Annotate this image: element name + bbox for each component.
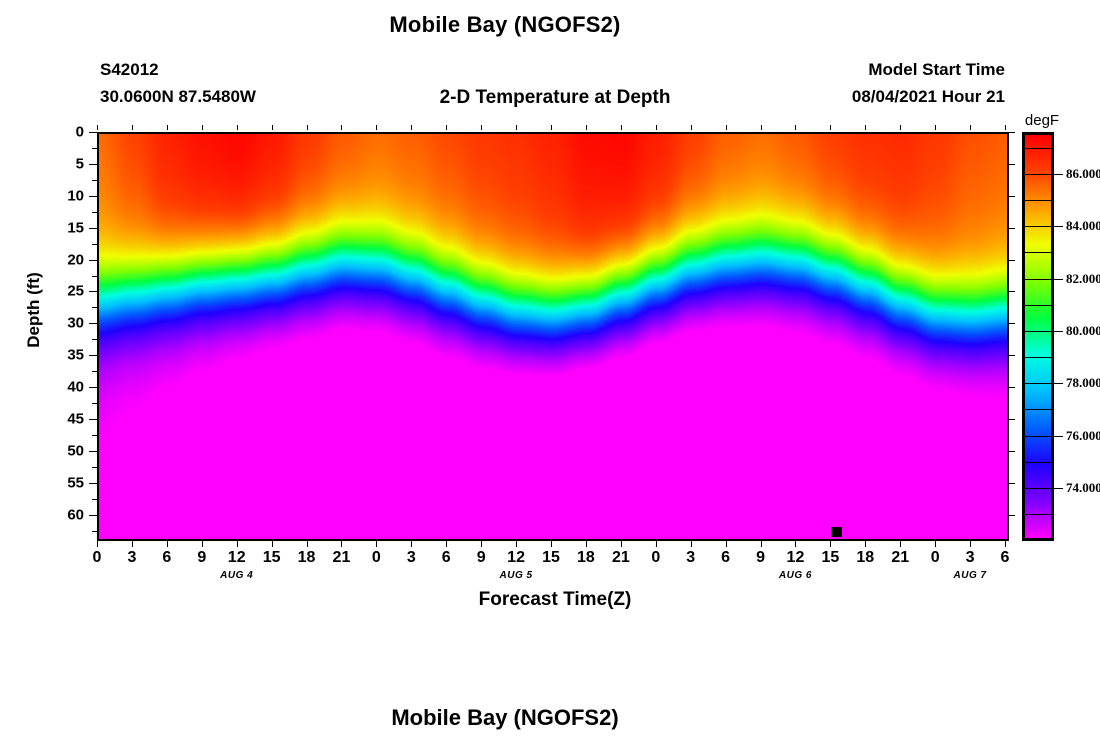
y-axis-tick	[89, 260, 97, 261]
y-axis-tick	[89, 355, 97, 356]
y-axis-minor-tick	[92, 403, 97, 404]
y-axis-minor-tick	[92, 499, 97, 500]
x-axis-tick-label: 18	[298, 549, 316, 567]
station-bottom-depth-marker	[831, 527, 842, 537]
colorbar-band-line	[1025, 279, 1051, 280]
x-axis-day-label: AUG 4	[220, 570, 253, 581]
y-axis-minor-tick	[92, 212, 97, 213]
x-axis-tick-label: 3	[127, 549, 136, 567]
y-axis-minor-tick	[92, 339, 97, 340]
colorbar-band-line	[1025, 148, 1051, 149]
y-axis-tick-label: 30	[42, 315, 84, 332]
y-axis-right-tick	[1007, 164, 1015, 165]
x-axis-tick	[97, 539, 98, 547]
station-id: S42012	[100, 60, 159, 80]
model-start-time-label: Model Start Time	[700, 60, 1005, 80]
heatmap-canvas	[99, 134, 1007, 539]
x-axis-day-label: AUG 5	[500, 570, 533, 581]
x-axis-tick-label: 12	[228, 549, 246, 567]
x-axis-top-tick	[691, 125, 692, 130]
x-axis-top-tick	[202, 125, 203, 130]
y-axis-right-tick	[1007, 419, 1015, 420]
colorbar-tick	[1054, 174, 1063, 175]
x-axis-tick-label: 0	[93, 549, 102, 567]
x-axis-tick-label: 6	[442, 549, 451, 567]
colorbar-band-line	[1025, 331, 1051, 332]
y-axis-tick	[89, 164, 97, 165]
y-axis-right-tick	[1007, 515, 1015, 516]
x-axis-top-tick	[1005, 125, 1006, 130]
x-axis-top-tick	[830, 125, 831, 130]
y-axis-tick-label: 35	[42, 347, 84, 364]
x-axis-tick	[167, 539, 168, 547]
y-axis-title: Depth (ft)	[24, 250, 44, 370]
x-axis-tick	[376, 539, 377, 547]
colorbar-band-line	[1025, 226, 1051, 227]
y-axis-minor-tick	[92, 148, 97, 149]
x-axis-top-tick	[586, 125, 587, 130]
y-axis-minor-tick	[92, 435, 97, 436]
colorbar-band-line	[1025, 514, 1051, 515]
y-axis-right-tick	[1007, 451, 1015, 452]
colorbar-band-line	[1025, 357, 1051, 358]
x-axis-tick	[1005, 539, 1006, 547]
y-axis-tick-label: 25	[42, 283, 84, 300]
y-axis-tick-label: 0	[42, 124, 84, 141]
x-axis-top-tick	[376, 125, 377, 130]
y-axis-tick	[89, 291, 97, 292]
x-axis-day-label: AUG 7	[954, 570, 987, 581]
x-axis-top-tick	[935, 125, 936, 130]
y-axis-right-tick	[1007, 387, 1015, 388]
x-axis-tick-label: 3	[407, 549, 416, 567]
x-axis-tick	[900, 539, 901, 547]
y-axis-right-tick	[1007, 260, 1015, 261]
x-axis-top-tick	[726, 125, 727, 130]
x-axis-tick	[935, 539, 936, 547]
x-axis-tick	[132, 539, 133, 547]
x-axis-top-tick	[865, 125, 866, 130]
y-axis-minor-tick	[92, 371, 97, 372]
x-axis-tick-label: 21	[612, 549, 630, 567]
x-axis-tick	[481, 539, 482, 547]
colorbar-band-line	[1025, 488, 1051, 489]
colorbar-tick-label: 74.000	[1066, 480, 1100, 496]
y-axis-right-tick	[1007, 483, 1015, 484]
x-axis-tick-label: 15	[542, 549, 560, 567]
y-axis-minor-tick	[92, 467, 97, 468]
y-axis-tick	[89, 323, 97, 324]
colorbar-tick-label: 80.000	[1066, 323, 1100, 339]
x-axis-tick-label: 9	[756, 549, 765, 567]
x-axis-tick	[621, 539, 622, 547]
x-axis-top-tick	[411, 125, 412, 130]
y-axis-right-tick	[1007, 323, 1015, 324]
x-axis-tick-label: 18	[577, 549, 595, 567]
colorbar-band-line	[1025, 252, 1051, 253]
y-axis-tick-label: 20	[42, 251, 84, 268]
colorbar-band-line	[1025, 200, 1051, 201]
x-axis-top-tick	[761, 125, 762, 130]
y-axis-tick-label: 5	[42, 155, 84, 172]
x-axis-tick	[726, 539, 727, 547]
y-axis-tick	[89, 228, 97, 229]
x-axis-tick-label: 3	[686, 549, 695, 567]
x-axis-tick	[341, 539, 342, 547]
x-axis-tick	[411, 539, 412, 547]
y-axis-right-tick	[1007, 196, 1015, 197]
model-start-time-value: 08/04/2021 Hour 21	[700, 87, 1005, 107]
x-axis-tick	[202, 539, 203, 547]
x-axis-tick	[516, 539, 517, 547]
y-axis-right-tick	[1007, 291, 1015, 292]
x-axis-top-tick	[656, 125, 657, 130]
y-axis-tick-label: 60	[42, 506, 84, 523]
y-axis-tick-label: 50	[42, 442, 84, 459]
x-axis-tick-label: 12	[507, 549, 525, 567]
x-axis-tick-label: 21	[891, 549, 909, 567]
y-axis-minor-tick	[92, 531, 97, 532]
colorbar	[1022, 132, 1054, 541]
y-axis-tick	[89, 419, 97, 420]
x-axis-day-label: AUG 6	[779, 570, 812, 581]
x-axis-tick	[691, 539, 692, 547]
y-axis-tick	[89, 483, 97, 484]
x-axis-top-tick	[551, 125, 552, 130]
colorbar-title: degF	[1012, 112, 1072, 129]
x-axis-tick	[865, 539, 866, 547]
x-axis-tick-label: 15	[821, 549, 839, 567]
y-axis-tick-label: 45	[42, 411, 84, 428]
x-axis-tick	[830, 539, 831, 547]
y-axis-minor-tick	[92, 244, 97, 245]
station-coordinates: 30.0600N 87.5480W	[100, 87, 256, 107]
x-axis-tick	[795, 539, 796, 547]
x-axis-title: Forecast Time(Z)	[330, 589, 780, 611]
x-axis-top-tick	[516, 125, 517, 130]
x-axis-tick-label: 21	[333, 549, 351, 567]
y-axis-tick-label: 15	[42, 219, 84, 236]
x-axis-tick-label: 9	[197, 549, 206, 567]
colorbar-canvas	[1025, 135, 1051, 538]
x-axis-top-tick	[167, 125, 168, 130]
x-axis-top-tick	[97, 125, 98, 130]
x-axis-tick	[551, 539, 552, 547]
x-axis-tick-label: 12	[787, 549, 805, 567]
y-axis-tick	[89, 515, 97, 516]
x-axis-tick	[761, 539, 762, 547]
x-axis-tick-label: 6	[721, 549, 730, 567]
y-axis-right-tick	[1007, 355, 1015, 356]
y-axis-minor-tick	[92, 180, 97, 181]
colorbar-tick-label: 84.000	[1066, 218, 1100, 234]
x-axis-tick	[307, 539, 308, 547]
x-axis-top-tick	[481, 125, 482, 130]
colorbar-tick-label: 82.000	[1066, 271, 1100, 287]
y-axis-minor-tick	[92, 307, 97, 308]
x-axis-tick	[272, 539, 273, 547]
x-axis-top-tick	[132, 125, 133, 130]
x-axis-tick	[586, 539, 587, 547]
colorbar-tick-label: 78.000	[1066, 375, 1100, 391]
y-axis-tick-label: 40	[42, 379, 84, 396]
x-axis-top-tick	[237, 125, 238, 130]
page-title: Mobile Bay (NGOFS2)	[0, 12, 1010, 38]
y-axis-tick	[89, 132, 97, 133]
colorbar-band-line	[1025, 409, 1051, 410]
colorbar-band-line	[1025, 462, 1051, 463]
x-axis-tick	[656, 539, 657, 547]
colorbar-tick	[1054, 279, 1063, 280]
colorbar-band-line	[1025, 436, 1051, 437]
colorbar-band-line	[1025, 383, 1051, 384]
colorbar-tick	[1054, 226, 1063, 227]
y-axis-right-tick	[1007, 228, 1015, 229]
colorbar-tick	[1054, 488, 1063, 489]
x-axis-tick-label: 9	[477, 549, 486, 567]
x-axis-tick-label: 0	[931, 549, 940, 567]
x-axis-top-tick	[621, 125, 622, 130]
y-axis-tick	[89, 387, 97, 388]
x-axis-tick-label: 0	[651, 549, 660, 567]
x-axis-tick-label: 6	[162, 549, 171, 567]
x-axis-tick	[446, 539, 447, 547]
x-axis-tick-label: 18	[856, 549, 874, 567]
colorbar-tick	[1054, 436, 1063, 437]
x-axis-top-tick	[795, 125, 796, 130]
colorbar-tick	[1054, 383, 1063, 384]
x-axis-tick	[237, 539, 238, 547]
x-axis-tick-label: 6	[1001, 549, 1010, 567]
temperature-depth-heatmap	[97, 132, 1009, 541]
colorbar-tick	[1054, 331, 1063, 332]
y-axis-tick	[89, 451, 97, 452]
bottom-title: Mobile Bay (NGOFS2)	[0, 705, 1010, 731]
x-axis-tick-label: 15	[263, 549, 281, 567]
colorbar-band-line	[1025, 305, 1051, 306]
x-axis-top-tick	[272, 125, 273, 130]
x-axis-top-tick	[900, 125, 901, 130]
x-axis-top-tick	[970, 125, 971, 130]
y-axis-tick-label: 55	[42, 474, 84, 491]
x-axis-top-tick	[341, 125, 342, 130]
x-axis-tick-label: 0	[372, 549, 381, 567]
colorbar-tick-label: 76.000	[1066, 428, 1100, 444]
y-axis-tick-label: 10	[42, 187, 84, 204]
y-axis-tick	[89, 196, 97, 197]
y-axis-minor-tick	[92, 276, 97, 277]
colorbar-band-line	[1025, 174, 1051, 175]
x-axis-tick-label: 3	[966, 549, 975, 567]
x-axis-top-tick	[307, 125, 308, 130]
colorbar-tick-label: 86.000	[1066, 166, 1100, 182]
x-axis-top-tick	[446, 125, 447, 130]
x-axis-tick	[970, 539, 971, 547]
y-axis-right-tick	[1007, 132, 1015, 133]
